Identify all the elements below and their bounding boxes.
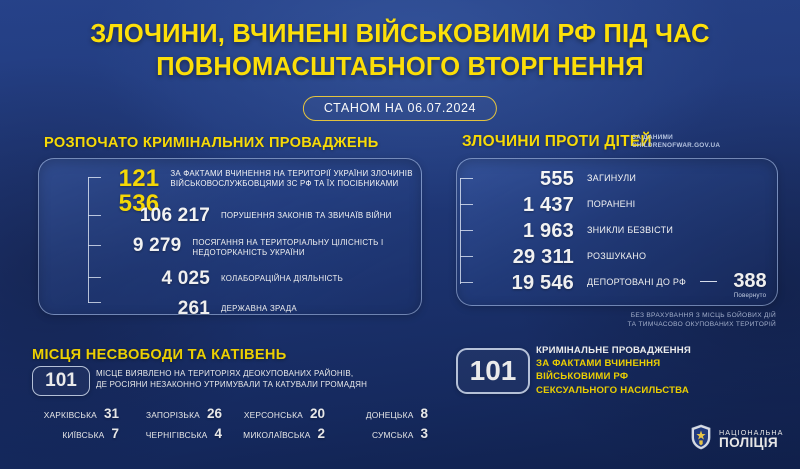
region-name: Донецька	[366, 410, 414, 420]
stat-label: Зникли безвісти	[587, 225, 673, 236]
region-item: Донецька 8	[333, 406, 436, 421]
sexual-violence-line-1: Кримінальне провадження	[536, 344, 786, 357]
places-description: місце виявлено на територіях деокуповани…	[96, 368, 426, 390]
sexual-violence-line-3: військовими РФ	[536, 370, 786, 383]
stat-label: Загинули	[587, 173, 636, 184]
stat-label: Посягання на територіальну цілісність і …	[192, 236, 415, 258]
footnote-line-2: та тимчасово окупованих територій	[476, 320, 776, 329]
stat-row: 9 279 Посягання на територіальну цілісні…	[105, 236, 415, 258]
stat-label: Поранені	[587, 199, 635, 210]
region-item: Чернігівська 4	[127, 426, 230, 441]
section-heading-criminal-proceedings: РОЗПОЧАТО КРИМІНАЛЬНИХ ПРОВАДЖЕНЬ	[44, 135, 379, 151]
stat-value: 29 311	[470, 246, 574, 268]
stat-label: Депортовані до РФ	[587, 277, 686, 288]
title-line-2: ПОВНОМАСШТАБНОГО ВТОРГНЕННЯ	[0, 51, 800, 84]
stat-label: Державна зрада	[221, 299, 297, 314]
section-heading-crimes-against-children: ЗЛОЧИНИ ПРОТИ ДІТЕЙ	[462, 133, 652, 151]
region-value: 4	[214, 426, 222, 441]
stat-row: 555 Загинули	[470, 168, 636, 190]
page-title: ЗЛОЧИНИ, ВЧИНЕНІ ВІЙСЬКОВИМИ РФ ПІД ЧАС …	[0, 18, 800, 83]
stat-row: 29 311 Розшукано	[470, 246, 646, 268]
returned-label: Повернуто	[722, 292, 778, 299]
region-name: Харківська	[44, 410, 97, 420]
region-value: 2	[317, 426, 325, 441]
data-source-attribution: За даними childrenofwar.gov.ua	[632, 134, 720, 151]
places-count-badge: 101	[32, 366, 90, 396]
title-line-1: ЗЛОЧИНИ, ВЧИНЕНІ ВІЙСЬКОВИМИ РФ ПІД ЧАС	[0, 18, 800, 51]
stat-row: 19 546 Депортовані до РФ	[470, 272, 686, 294]
logo-line-2: Поліція	[719, 436, 784, 450]
returned-connector-line	[700, 281, 717, 282]
region-name: Запорізька	[146, 410, 200, 420]
sexual-violence-line-4: сексуального насильства	[536, 384, 786, 397]
places-description-line-1: місце виявлено на територіях деокуповани…	[96, 368, 426, 379]
region-name: Чернігівська	[146, 430, 208, 440]
region-item: Сумська 3	[333, 426, 436, 441]
source-line-1: За даними	[632, 134, 720, 142]
region-name: Київська	[62, 430, 104, 440]
region-value: 26	[207, 406, 222, 421]
stat-label: Порушення законів та звичаїв війни	[221, 206, 392, 221]
stat-label: Колабораційна діяльність	[221, 269, 343, 284]
stat-value: 555	[470, 168, 574, 190]
stat-value: 106 217	[105, 206, 210, 226]
region-name: Сумська	[372, 430, 413, 440]
region-item: Харківська 31	[24, 406, 127, 421]
stat-row: 4 025 Колабораційна діяльність	[105, 269, 343, 289]
region-value: 8	[420, 406, 428, 421]
region-item: Миколаївська 2	[230, 426, 333, 441]
sexual-violence-description: Кримінальне провадження за фактами вчине…	[536, 344, 786, 397]
section-heading-places-of-detention: МІСЦЯ НЕСВОБОДИ ТА КАТІВЕНЬ	[32, 347, 287, 363]
date-badge: СТАНОМ НА 06.07.2024	[303, 96, 497, 121]
logo-wordmark: Національна Поліція	[719, 429, 784, 451]
stat-row: 106 217 Порушення законів та звичаїв вій…	[105, 206, 392, 226]
criminal-bracket	[88, 177, 102, 303]
children-footnote: Без врахування з місць бойових дій та ти…	[476, 311, 776, 330]
returned-value: 388	[722, 271, 778, 291]
regions-breakdown: Харківська 31 Запорізька 26 Херсонська 2…	[24, 406, 436, 441]
returned-children-callout: 388 Повернуто	[722, 271, 778, 299]
stat-row: 261 Державна зрада	[105, 299, 297, 319]
stat-value: 4 025	[105, 269, 210, 289]
stat-row: 1 437 Поранені	[470, 194, 635, 216]
region-item: Київська 7	[24, 426, 127, 441]
stat-value: 19 546	[470, 272, 574, 294]
national-police-logo: Національна Поліція	[690, 424, 784, 455]
infographic-root: ЗЛОЧИНИ, ВЧИНЕНІ ВІЙСЬКОВИМИ РФ ПІД ЧАС …	[0, 0, 800, 469]
region-value: 7	[111, 426, 119, 441]
stat-value: 1 437	[470, 194, 574, 216]
footnote-line-1: Без врахування з місць бойових дій	[476, 311, 776, 320]
region-value: 31	[104, 406, 119, 421]
region-value: 3	[420, 426, 428, 441]
stat-value: 261	[105, 299, 210, 319]
stat-label: За фактами вчинення на території України…	[170, 166, 415, 189]
police-badge-icon	[690, 424, 712, 455]
region-item: Херсонська 20	[230, 406, 333, 421]
sexual-violence-count-badge: 101	[456, 348, 530, 394]
stat-row: 1 963 Зникли безвісти	[470, 220, 673, 242]
sexual-violence-line-2: за фактами вчинення	[536, 357, 786, 370]
stat-value: 1 963	[470, 220, 574, 242]
region-name: Миколаївська	[243, 430, 310, 440]
region-item: Запорізька 26	[127, 406, 230, 421]
places-description-line-2: де росіяни незаконно утримували та катув…	[96, 379, 426, 390]
region-value: 20	[310, 406, 325, 421]
source-line-2: childrenofwar.gov.ua	[632, 142, 720, 150]
stat-value: 9 279	[105, 236, 181, 256]
stat-label: Розшукано	[587, 251, 646, 262]
region-name: Херсонська	[244, 410, 303, 420]
